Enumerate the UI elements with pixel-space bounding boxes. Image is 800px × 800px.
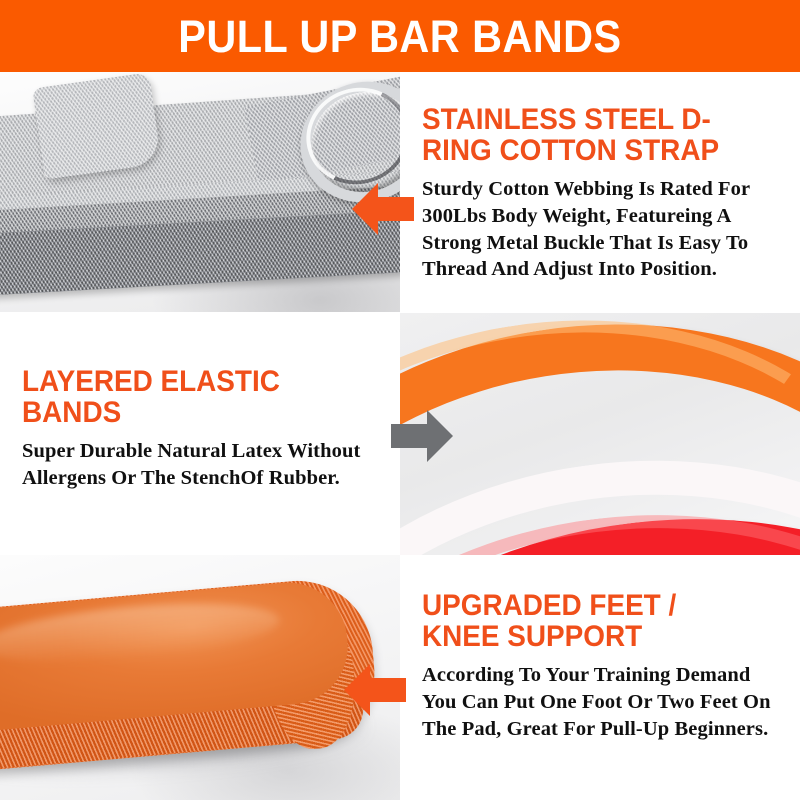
arrow-right-icon-bands — [391, 408, 453, 469]
feature-photo-knee-pad — [0, 555, 400, 800]
feature-photo-elastic-bands — [400, 313, 800, 555]
band-orange-highlight — [400, 313, 800, 555]
feature-text-cotton-strap: STAINLESS STEEL D-RING COTTON STRAP Stur… — [422, 104, 786, 283]
feature-heading-elastic-bands: LAYERED ELASTIC BANDS — [22, 366, 368, 428]
feature-heading-knee-pad: UPGRADED FEET / KNEE SUPPORT — [422, 590, 761, 652]
header-banner: PULL UP BAR BANDS — [0, 0, 800, 72]
feature-text-knee-pad: UPGRADED FEET / KNEE SUPPORT According T… — [422, 590, 786, 742]
arrow-left-icon-strap — [352, 181, 414, 242]
feature-heading-cotton-strap: STAINLESS STEEL D-RING COTTON STRAP — [422, 104, 761, 166]
feature-photo-cotton-strap — [0, 72, 400, 312]
feature-text-elastic-bands: LAYERED ELASTIC BANDS Super Durable Natu… — [22, 366, 394, 492]
arrow-left-icon-pad — [344, 662, 406, 723]
page-title: PULL UP BAR BANDS — [178, 14, 621, 59]
feature-body-elastic-bands: Super Durable Natural Latex Without Alle… — [22, 438, 394, 491]
infographic-page: PULL UP BAR BANDS STAINLESS STEEL D-RING… — [0, 0, 800, 800]
strap-fold-loop — [32, 72, 162, 180]
feature-body-cotton-strap: Sturdy Cotton Webbing Is Rated For 300Lb… — [422, 176, 786, 283]
feature-body-knee-pad: According To Your Training Demand You Ca… — [422, 662, 786, 742]
